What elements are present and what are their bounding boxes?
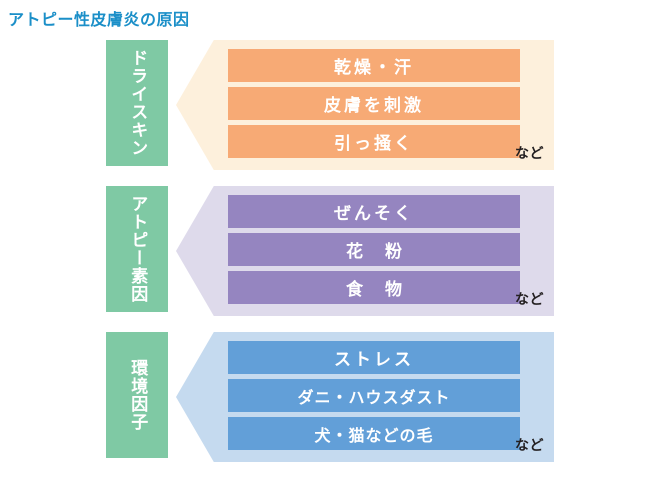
cause-bar-list: ストレス ダニ・ハウスダスト 犬・猫などの毛 (228, 341, 520, 450)
cause-item: ぜんそく (228, 195, 520, 228)
cause-group-atopic-predisposition: アトピー素因 ぜんそく 花粉 食物 など (0, 186, 655, 318)
cause-panel-environmental-factors: ストレス ダニ・ハウスダスト 犬・猫などの毛 など (176, 332, 554, 462)
cause-item: 乾燥・汗 (228, 49, 520, 82)
page-title: アトピー性皮膚炎の原因 (8, 6, 190, 30)
cause-item: ダニ・ハウスダスト (228, 379, 520, 412)
category-label-atopic-predisposition: アトピー素因 (106, 186, 168, 312)
cause-item: ストレス (228, 341, 520, 374)
causes-diagram: ドライスキン 乾燥・汗 皮膚を刺激 引っ掻く など アトピー素因 ぜんそく 花粉… (0, 38, 655, 474)
cause-item: 食物 (228, 271, 520, 304)
etc-label: など (515, 289, 544, 309)
cause-group-dry-skin: ドライスキン 乾燥・汗 皮膚を刺激 引っ掻く など (0, 40, 655, 172)
etc-label: など (515, 143, 544, 163)
cause-item: 皮膚を刺激 (228, 87, 520, 120)
category-label-environmental-factors: 環境因子 (106, 332, 168, 458)
cause-item: 引っ掻く (228, 125, 520, 158)
cause-bar-list: 乾燥・汗 皮膚を刺激 引っ掻く (228, 49, 520, 158)
cause-item: 犬・猫などの毛 (228, 417, 520, 450)
cause-bar-list: ぜんそく 花粉 食物 (228, 195, 520, 304)
cause-item: 花粉 (228, 233, 520, 266)
etc-label: など (515, 435, 544, 455)
cause-panel-dry-skin: 乾燥・汗 皮膚を刺激 引っ掻く など (176, 40, 554, 170)
category-label-dry-skin: ドライスキン (106, 40, 168, 166)
cause-panel-atopic-predisposition: ぜんそく 花粉 食物 など (176, 186, 554, 316)
cause-group-environmental-factors: 環境因子 ストレス ダニ・ハウスダスト 犬・猫などの毛 など (0, 332, 655, 464)
